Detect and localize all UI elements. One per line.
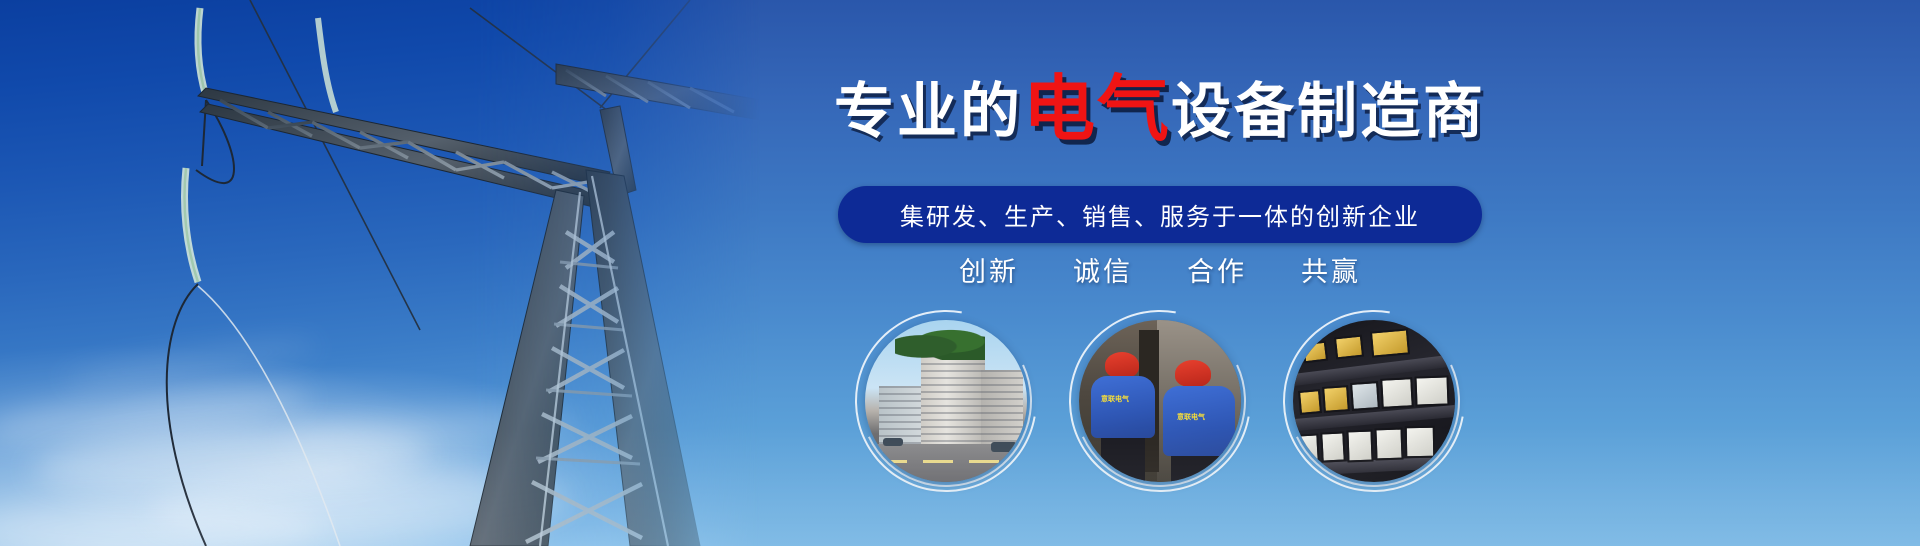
certificate-frame [1298, 389, 1322, 415]
certificate-frame [1322, 385, 1350, 413]
headline-suffix: 设备制造商 [1171, 77, 1486, 147]
circle-image-mask: 意联电气 意联电气 [1079, 320, 1241, 482]
hard-hat-icon [1175, 360, 1211, 387]
office-building-photo[interactable] [865, 320, 1027, 482]
keyword-list: 创新 诚信 合作 共赢 [660, 250, 1660, 289]
certificate-frame [1302, 341, 1328, 364]
worker-legs [1101, 434, 1145, 482]
certificate-frame [1374, 428, 1403, 461]
headline-prefix: 专业的 [834, 77, 1023, 147]
uniform-badge-text: 意联电气 [1101, 394, 1129, 404]
road-marking [969, 460, 999, 463]
road-marking [877, 460, 907, 463]
car [991, 442, 1017, 452]
workers-installation-photo[interactable]: 意联电气 意联电气 [1079, 320, 1241, 482]
promo-banner: 专业的电气设备制造商 集研发、生产、销售、服务于一体的创新企业 创新 诚信 合作… [0, 0, 1920, 546]
circle-image-mask [865, 320, 1027, 482]
keyword-item: 共赢 [1301, 250, 1361, 289]
certificate-frame [1320, 431, 1346, 462]
certificate-frame [1296, 433, 1319, 462]
worker-uniform: 意联电气 [1163, 386, 1235, 456]
circle-image-mask [1293, 320, 1455, 482]
transmission-tower-photo [0, 0, 760, 546]
lattice-braces [220, 100, 600, 196]
worker-uniform: 意联电气 [1091, 376, 1155, 438]
certificate-frame [1370, 328, 1410, 357]
building-scene [865, 320, 1027, 482]
building-main [921, 356, 985, 452]
keyword-item: 合作 [1187, 250, 1247, 289]
certificates-wall-photo[interactable] [1293, 320, 1455, 482]
certificate-frame [1405, 426, 1436, 459]
headline-highlight: 电气 [1023, 67, 1171, 151]
car [883, 438, 903, 446]
certificate-frame [1346, 430, 1373, 463]
subtitle-text: 集研发、生产、销售、服务于一体的创新企业 [900, 197, 1420, 232]
photo-circle-list: 意联电气 意联电气 [660, 320, 1660, 482]
tree-foliage [895, 326, 985, 360]
keyword-item: 创新 [959, 250, 1019, 289]
subtitle-pill: 集研发、生产、销售、服务于一体的创新企业 [838, 186, 1482, 243]
keyword-item: 诚信 [1073, 250, 1133, 289]
certificate-frame [1334, 335, 1364, 360]
insulator-string [185, 8, 337, 282]
building-right [981, 370, 1023, 452]
road-marking [923, 460, 953, 463]
hard-hat-icon [1105, 352, 1139, 378]
worker-legs [1171, 452, 1227, 482]
uniform-badge-text: 意联电气 [1177, 412, 1205, 422]
page-title: 专业的电气设备制造商 [660, 72, 1660, 148]
certificate-frame [1350, 381, 1380, 411]
certificate-wall-scene [1293, 320, 1455, 482]
certificate-frame [1414, 375, 1449, 406]
banner-content: 专业的电气设备制造商 集研发、生产、销售、服务于一体的创新企业 创新 诚信 合作… [660, 0, 1660, 546]
certificate-frame [1380, 377, 1414, 409]
pylon-structure-icon [0, 0, 760, 546]
workers-scene: 意联电气 意联电气 [1079, 320, 1241, 482]
